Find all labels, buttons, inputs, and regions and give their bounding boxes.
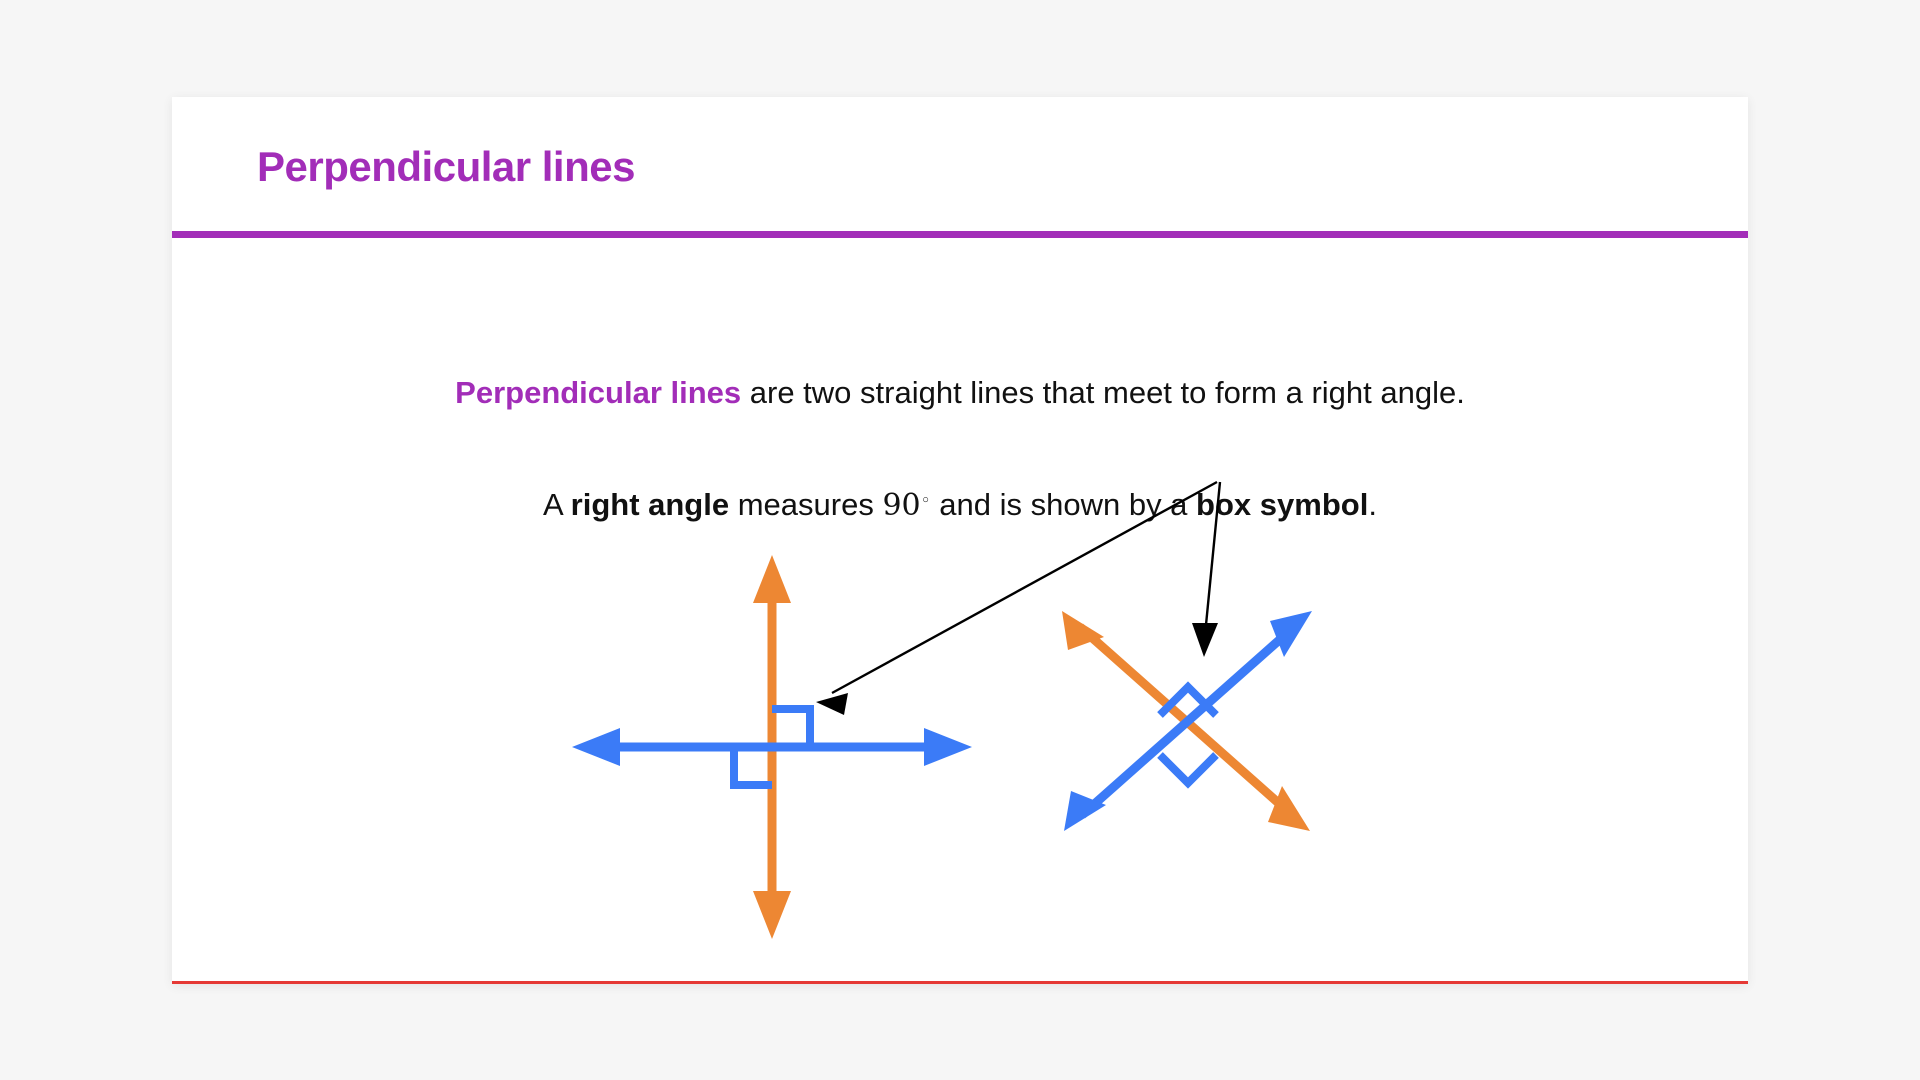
blue-arrowhead-right [924,728,972,766]
lesson-card: Perpendicular lines Perpendicular lines … [172,97,1748,984]
annotation-arrows [816,482,1220,715]
annotation-arrow-right-head [1192,623,1218,657]
definition-text: are two straight lines that meet to form… [741,375,1465,410]
definition-term: Perpendicular lines [455,375,741,410]
title-divider [172,231,1748,238]
box-symbol-diagonal-top [1160,687,1216,715]
degree-symbol: ◦ [921,491,931,511]
box-symbol-diagonal-bottom [1160,755,1216,783]
figure-left-perpendicular-axes [572,555,972,939]
figure-right-perpendicular-diagonals [1062,611,1312,831]
box-symbol-upper-right [772,709,810,747]
orange-arrowhead-up [753,555,791,603]
box-symbol-lower-left [734,747,772,785]
orange-arrowhead-down [753,891,791,939]
figures-container [172,517,1748,977]
perpendicular-diagrams-svg [172,517,1748,977]
page-title: Perpendicular lines [257,143,635,191]
blue-arrowhead-left [572,728,620,766]
card-header: Perpendicular lines [172,97,1748,234]
slide-canvas: Perpendicular lines Perpendicular lines … [0,0,1920,1080]
annotation-arrow-left-head [816,693,848,715]
blue-arrowhead-upper-right [1270,611,1312,657]
orange-arrowhead-lower-right [1268,786,1310,831]
definition-line: Perpendicular lines are two straight lin… [172,373,1748,413]
card-bottom-rule [172,981,1748,984]
